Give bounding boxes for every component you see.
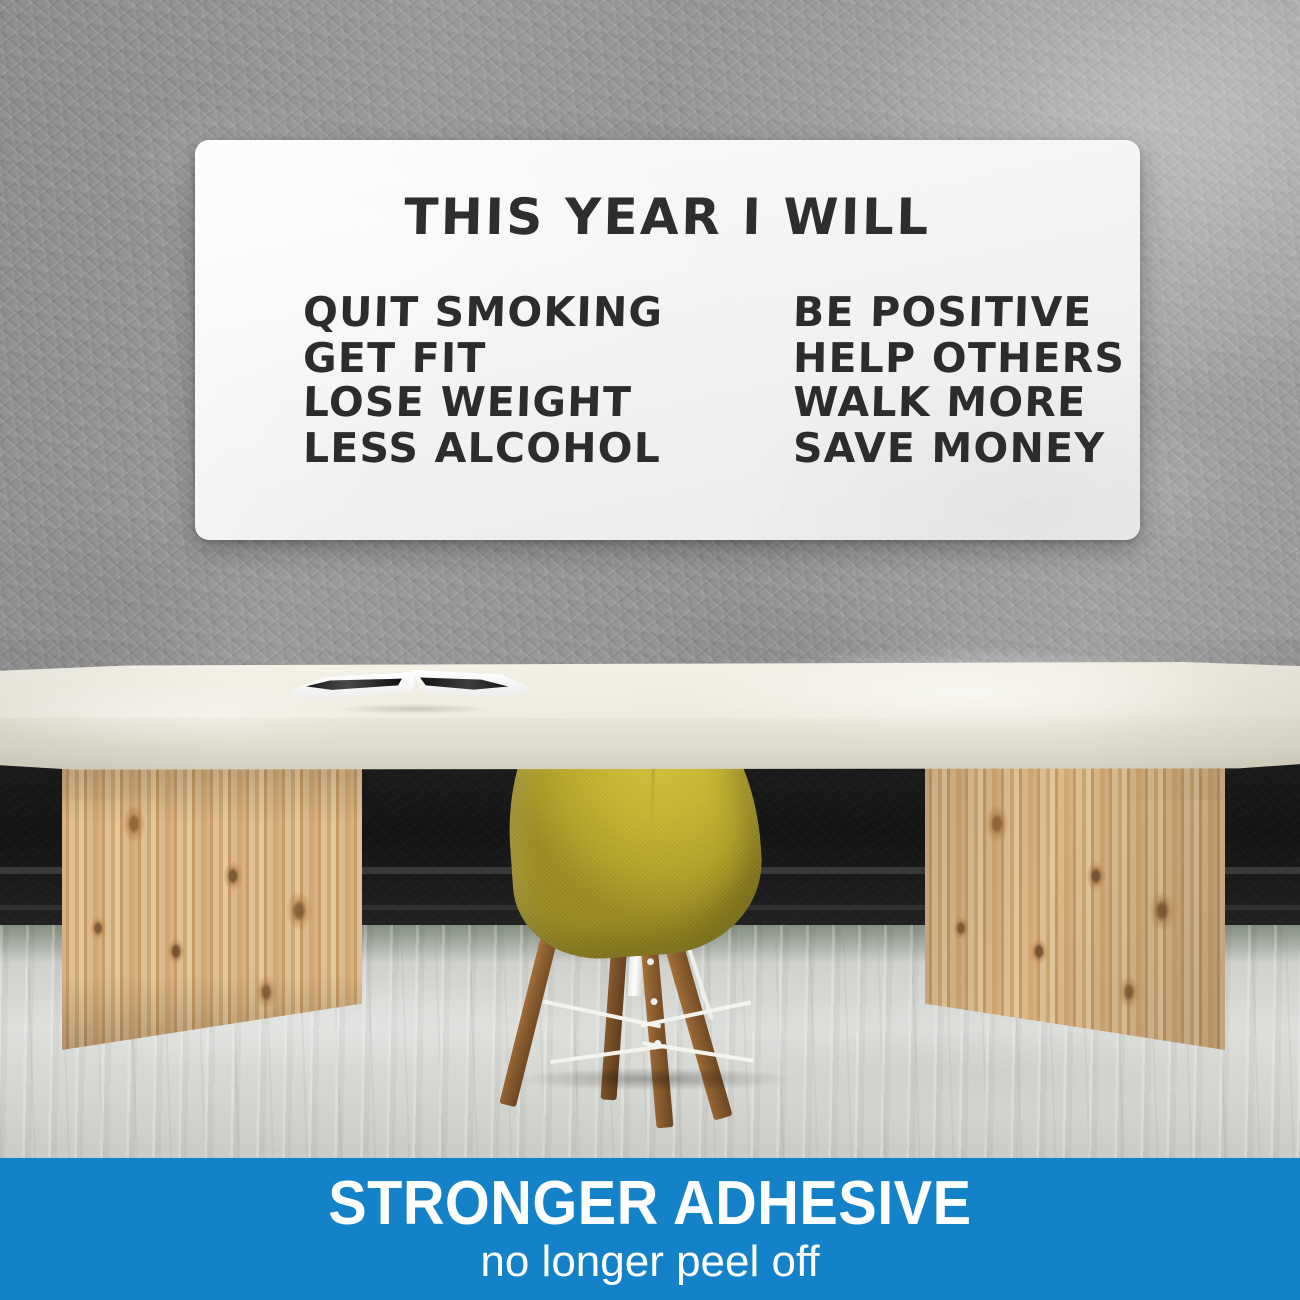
leg-shading bbox=[925, 760, 1225, 1050]
table-top-surface bbox=[0, 662, 1300, 720]
leg-shading bbox=[62, 760, 362, 1050]
table-leg-right bbox=[925, 760, 1225, 1050]
whiteboard-list-columns: QUIT SMOKING GET FIT LOSE WEIGHT LESS AL… bbox=[303, 290, 1062, 470]
list-item: LESS ALCOHOL bbox=[303, 426, 664, 471]
magazine-shadow bbox=[306, 702, 522, 716]
whiteboard-right-column: BE POSITIVE HELP OTHERS WALK MORE SAVE M… bbox=[793, 290, 1125, 470]
product-photo-scene: THIS YEAR I WILL QUIT SMOKING GET FIT LO… bbox=[0, 0, 1300, 1300]
list-item: GET FIT bbox=[303, 336, 664, 381]
whiteboard-title: THIS YEAR I WILL bbox=[194, 188, 1140, 246]
list-item: LOSE WEIGHT bbox=[302, 380, 663, 425]
banner-subtitle: no longer peel off bbox=[480, 1238, 819, 1286]
table-leg-left bbox=[62, 760, 362, 1050]
chair-leg-pin bbox=[647, 958, 655, 966]
list-item: QUIT SMOKING bbox=[302, 290, 663, 335]
whiteboard: THIS YEAR I WILL QUIT SMOKING GET FIT LO… bbox=[195, 140, 1140, 540]
list-item: WALK MORE bbox=[793, 380, 1126, 425]
chair-leg-pin bbox=[650, 998, 658, 1006]
list-item: HELP OTHERS bbox=[793, 336, 1126, 381]
banner-title: STRONGER ADHESIVE bbox=[328, 1172, 971, 1236]
whiteboard-content: THIS YEAR I WILL QUIT SMOKING GET FIT LO… bbox=[195, 140, 1140, 540]
promo-banner: STRONGER ADHESIVE no longer peel off bbox=[0, 1158, 1300, 1300]
open-magazine bbox=[292, 658, 536, 714]
table-top-edge bbox=[0, 718, 1300, 774]
whiteboard-left-column: QUIT SMOKING GET FIT LOSE WEIGHT LESS AL… bbox=[303, 290, 663, 470]
chair-floor-shadow bbox=[455, 1062, 855, 1096]
table-top bbox=[0, 640, 1300, 800]
list-item: SAVE MONEY bbox=[793, 426, 1126, 471]
list-item: BE POSITIVE bbox=[793, 290, 1126, 335]
